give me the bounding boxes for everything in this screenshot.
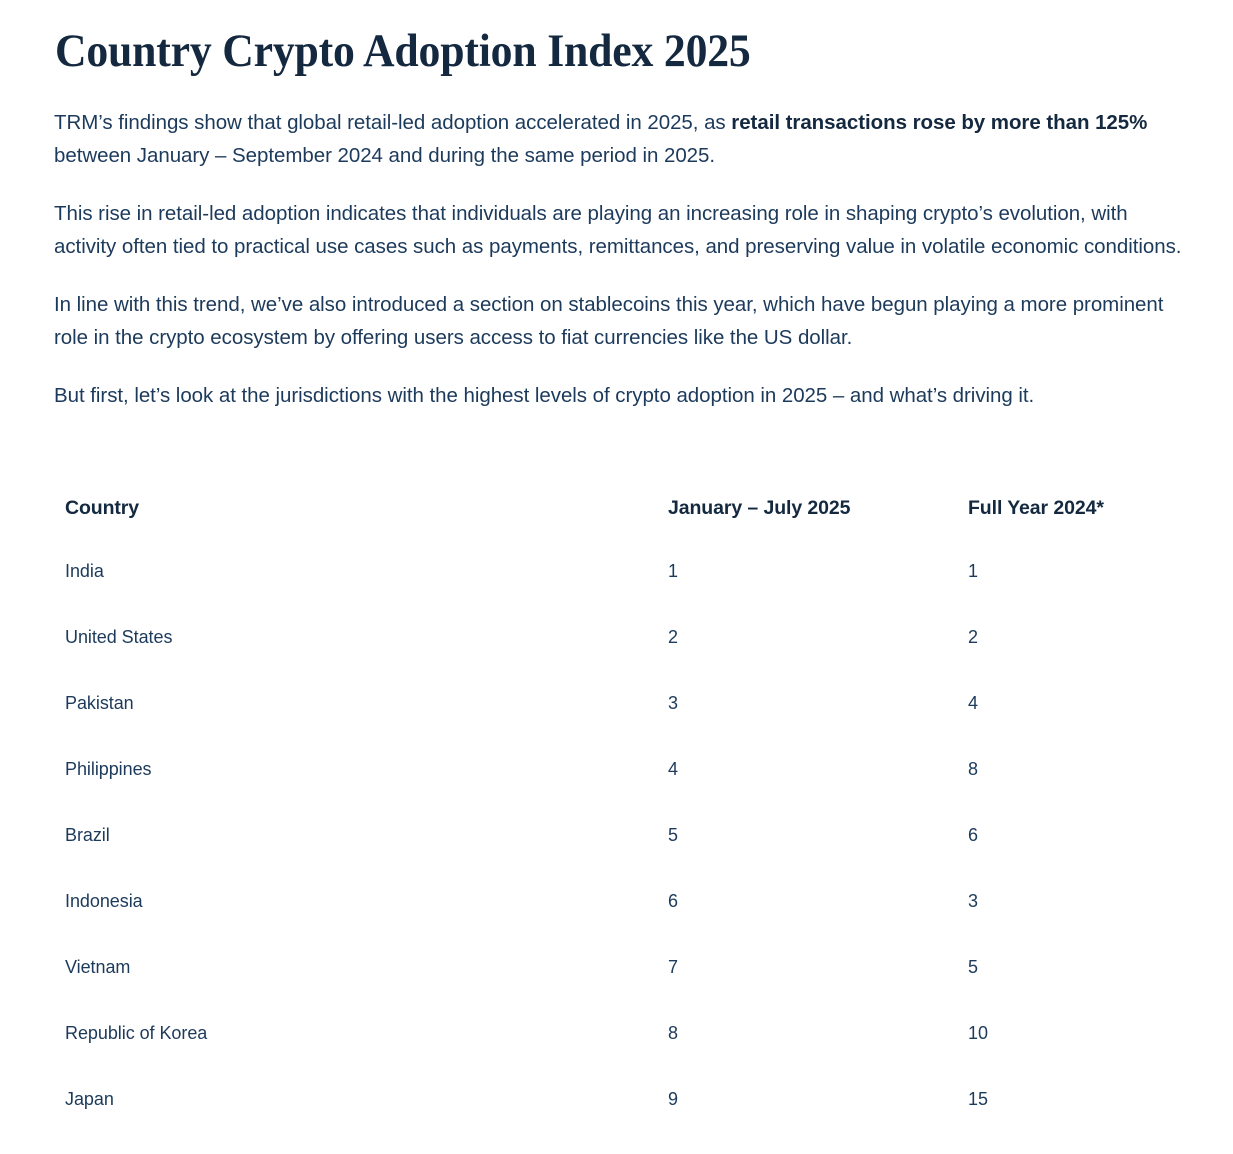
- cell-jan-jul-2025: 9: [668, 1088, 968, 1154]
- cell-full-year-2024: 2: [968, 626, 1175, 692]
- table-row: Philippines48: [65, 758, 1175, 824]
- cell-country: Republic of Korea: [65, 1022, 668, 1088]
- cell-country: Indonesia: [65, 890, 668, 956]
- column-header-jan-jul-2025: January – July 2025: [668, 496, 968, 560]
- intro-paragraph: But first, let’s look at the jurisdictio…: [54, 379, 1222, 412]
- table-row: Indonesia63: [65, 890, 1175, 956]
- table-row: Republic of Korea810: [65, 1022, 1175, 1088]
- cell-full-year-2024: 4: [968, 692, 1175, 758]
- cell-full-year-2024: 10: [968, 1022, 1175, 1088]
- cell-country: United States: [65, 626, 668, 692]
- cell-full-year-2024: 5: [968, 956, 1175, 1022]
- paragraph-text: This rise in retail-led adoption indicat…: [54, 202, 1181, 258]
- table-row: Japan915: [65, 1088, 1175, 1154]
- cell-country: Pakistan: [65, 692, 668, 758]
- table-row: Pakistan34: [65, 692, 1175, 758]
- cell-full-year-2024: 6: [968, 824, 1175, 890]
- cell-full-year-2024: 3: [968, 890, 1175, 956]
- cell-country: Vietnam: [65, 956, 668, 1022]
- cell-jan-jul-2025: 8: [668, 1022, 968, 1088]
- column-header-country: Country: [65, 496, 668, 560]
- cell-country: India: [65, 560, 668, 626]
- paragraph-text: between January – September 2024 and dur…: [54, 144, 715, 167]
- paragraph-text: TRM’s findings show that global retail-l…: [54, 111, 731, 134]
- table-header-row: CountryJanuary – July 2025Full Year 2024…: [65, 496, 1175, 560]
- column-header-full-year-2024: Full Year 2024*: [968, 496, 1175, 560]
- cell-country: Brazil: [65, 824, 668, 890]
- cell-full-year-2024: 8: [968, 758, 1175, 824]
- cell-jan-jul-2025: 5: [668, 824, 968, 890]
- cell-jan-jul-2025: 4: [668, 758, 968, 824]
- cell-full-year-2024: 1: [968, 560, 1175, 626]
- emphasis-text: retail transactions rose by more than 12…: [731, 111, 1147, 134]
- cell-jan-jul-2025: 3: [668, 692, 968, 758]
- table-row: Brazil56: [65, 824, 1175, 890]
- table-row: United States22: [65, 626, 1175, 692]
- table-row: India11: [65, 560, 1175, 626]
- table-body: India11United States22Pakistan34Philippi…: [65, 560, 1175, 1154]
- paragraph-text: In line with this trend, we’ve also intr…: [54, 293, 1163, 349]
- cell-jan-jul-2025: 2: [668, 626, 968, 692]
- table-row: Vietnam75: [65, 956, 1175, 1022]
- cell-jan-jul-2025: 6: [668, 890, 968, 956]
- paragraph-text: But first, let’s look at the jurisdictio…: [54, 384, 1034, 407]
- cell-country: Japan: [65, 1088, 668, 1154]
- page-title: Country Crypto Adoption Index 2025: [55, 22, 1115, 80]
- intro-paragraph: In line with this trend, we’ve also intr…: [54, 288, 1174, 354]
- cell-jan-jul-2025: 7: [668, 956, 968, 1022]
- cell-jan-jul-2025: 1: [668, 560, 968, 626]
- intro-paragraph: This rise in retail-led adoption indicat…: [54, 197, 1194, 263]
- article-page: Country Crypto Adoption Index 2025 TRM’s…: [0, 0, 1233, 1092]
- cell-country: Philippines: [65, 758, 668, 824]
- intro-copy: TRM’s findings show that global retail-l…: [54, 106, 1222, 412]
- cell-full-year-2024: 15: [968, 1088, 1175, 1154]
- crypto-adoption-rank-table: CountryJanuary – July 2025Full Year 2024…: [65, 496, 1175, 1154]
- intro-paragraph: TRM’s findings show that global retail-l…: [54, 106, 1222, 172]
- table-header: CountryJanuary – July 2025Full Year 2024…: [65, 496, 1175, 560]
